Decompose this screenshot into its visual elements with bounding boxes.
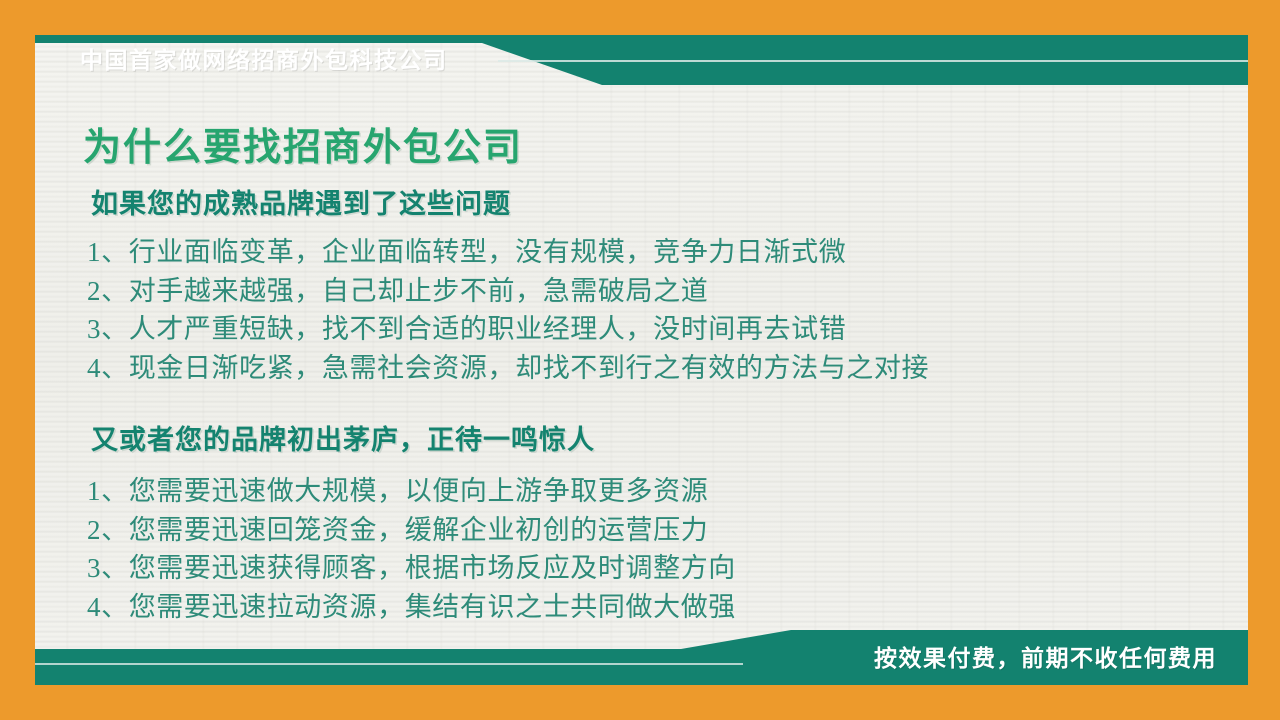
section-heading-problems: 如果您的成熟品牌遇到了这些问题 (91, 186, 511, 222)
bottom-ribbon-label: 按效果付费，前期不收任何费用 (874, 642, 1217, 674)
list-item: 2、对手越来越强，自己却止步不前，急需破局之道 (87, 272, 929, 311)
page-title: 为什么要找招商外包公司 (83, 123, 523, 173)
bottom-ribbon-accent-line (35, 663, 743, 665)
newbrand-list: 1、您需要迅速做大规模，以便向上游争取更多资源 2、您需要迅速回笼资金，缓解企业… (87, 472, 736, 626)
section-heading-newbrand: 又或者您的品牌初出茅庐，正待一鸣惊人 (91, 422, 595, 458)
list-item: 1、您需要迅速做大规模，以便向上游争取更多资源 (87, 472, 736, 511)
problem-list: 1、行业面临变革，企业面临转型，没有规模，竞争力日渐式微 2、对手越来越强，自己… (87, 233, 929, 387)
slide-root: 中国首家做网络招商外包科技公司 为什么要找招商外包公司 如果您的成熟品牌遇到了这… (0, 0, 1280, 720)
list-item: 3、您需要迅速获得顾客，根据市场反应及时调整方向 (87, 549, 736, 588)
list-item: 2、您需要迅速回笼资金，缓解企业初创的运营压力 (87, 511, 736, 550)
top-ribbon-label: 中国首家做网络招商外包科技公司 (80, 44, 448, 77)
list-item: 3、人才严重短缺，找不到合适的职业经理人，没时间再去试错 (87, 310, 929, 349)
slide-paper-canvas: 中国首家做网络招商外包科技公司 为什么要找招商外包公司 如果您的成熟品牌遇到了这… (35, 35, 1248, 685)
list-item: 1、行业面临变革，企业面临转型，没有规模，竞争力日渐式微 (87, 233, 929, 272)
list-item: 4、您需要迅速拉动资源，集结有识之士共同做大做强 (87, 588, 736, 627)
top-ribbon-accent-line (498, 60, 1248, 62)
list-item: 4、现金日渐吃紧，急需社会资源，却找不到行之有效的方法与之对接 (87, 349, 929, 388)
